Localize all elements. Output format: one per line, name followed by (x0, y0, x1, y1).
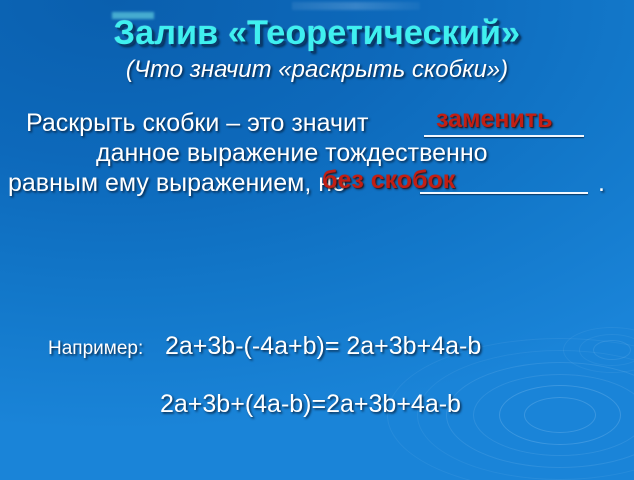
title-block: Залив «Теоретический» (Что значит «раскр… (0, 14, 634, 84)
top-edge-artifact (292, 2, 420, 10)
definition-line-2: данное выражение тождественно (96, 138, 488, 168)
page-title: Залив «Теоретический» (0, 14, 634, 53)
example-label: Например: (48, 338, 143, 360)
answer-word-1: заменить (436, 105, 552, 134)
definition-line-1: Раскрыть скобки – это значит (26, 108, 368, 138)
page-subtitle: (Что значит «раскрыть скобки») (0, 56, 634, 84)
example-expression-1: 2a+3b-(-4a+b)= 2a+3b+4a-b (165, 332, 481, 361)
fill-in-blank-underline-1 (424, 135, 584, 137)
definition-line-3: равным ему выражением, но (8, 168, 346, 198)
presentation-slide: Залив «Теоретический» (Что значит «раскр… (0, 0, 634, 480)
example-expression-2: 2a+3b+(4a-b)=2a+3b+4a-b (160, 390, 461, 419)
trailing-period: . (598, 168, 605, 198)
answer-word-2: без скобок (322, 166, 455, 195)
